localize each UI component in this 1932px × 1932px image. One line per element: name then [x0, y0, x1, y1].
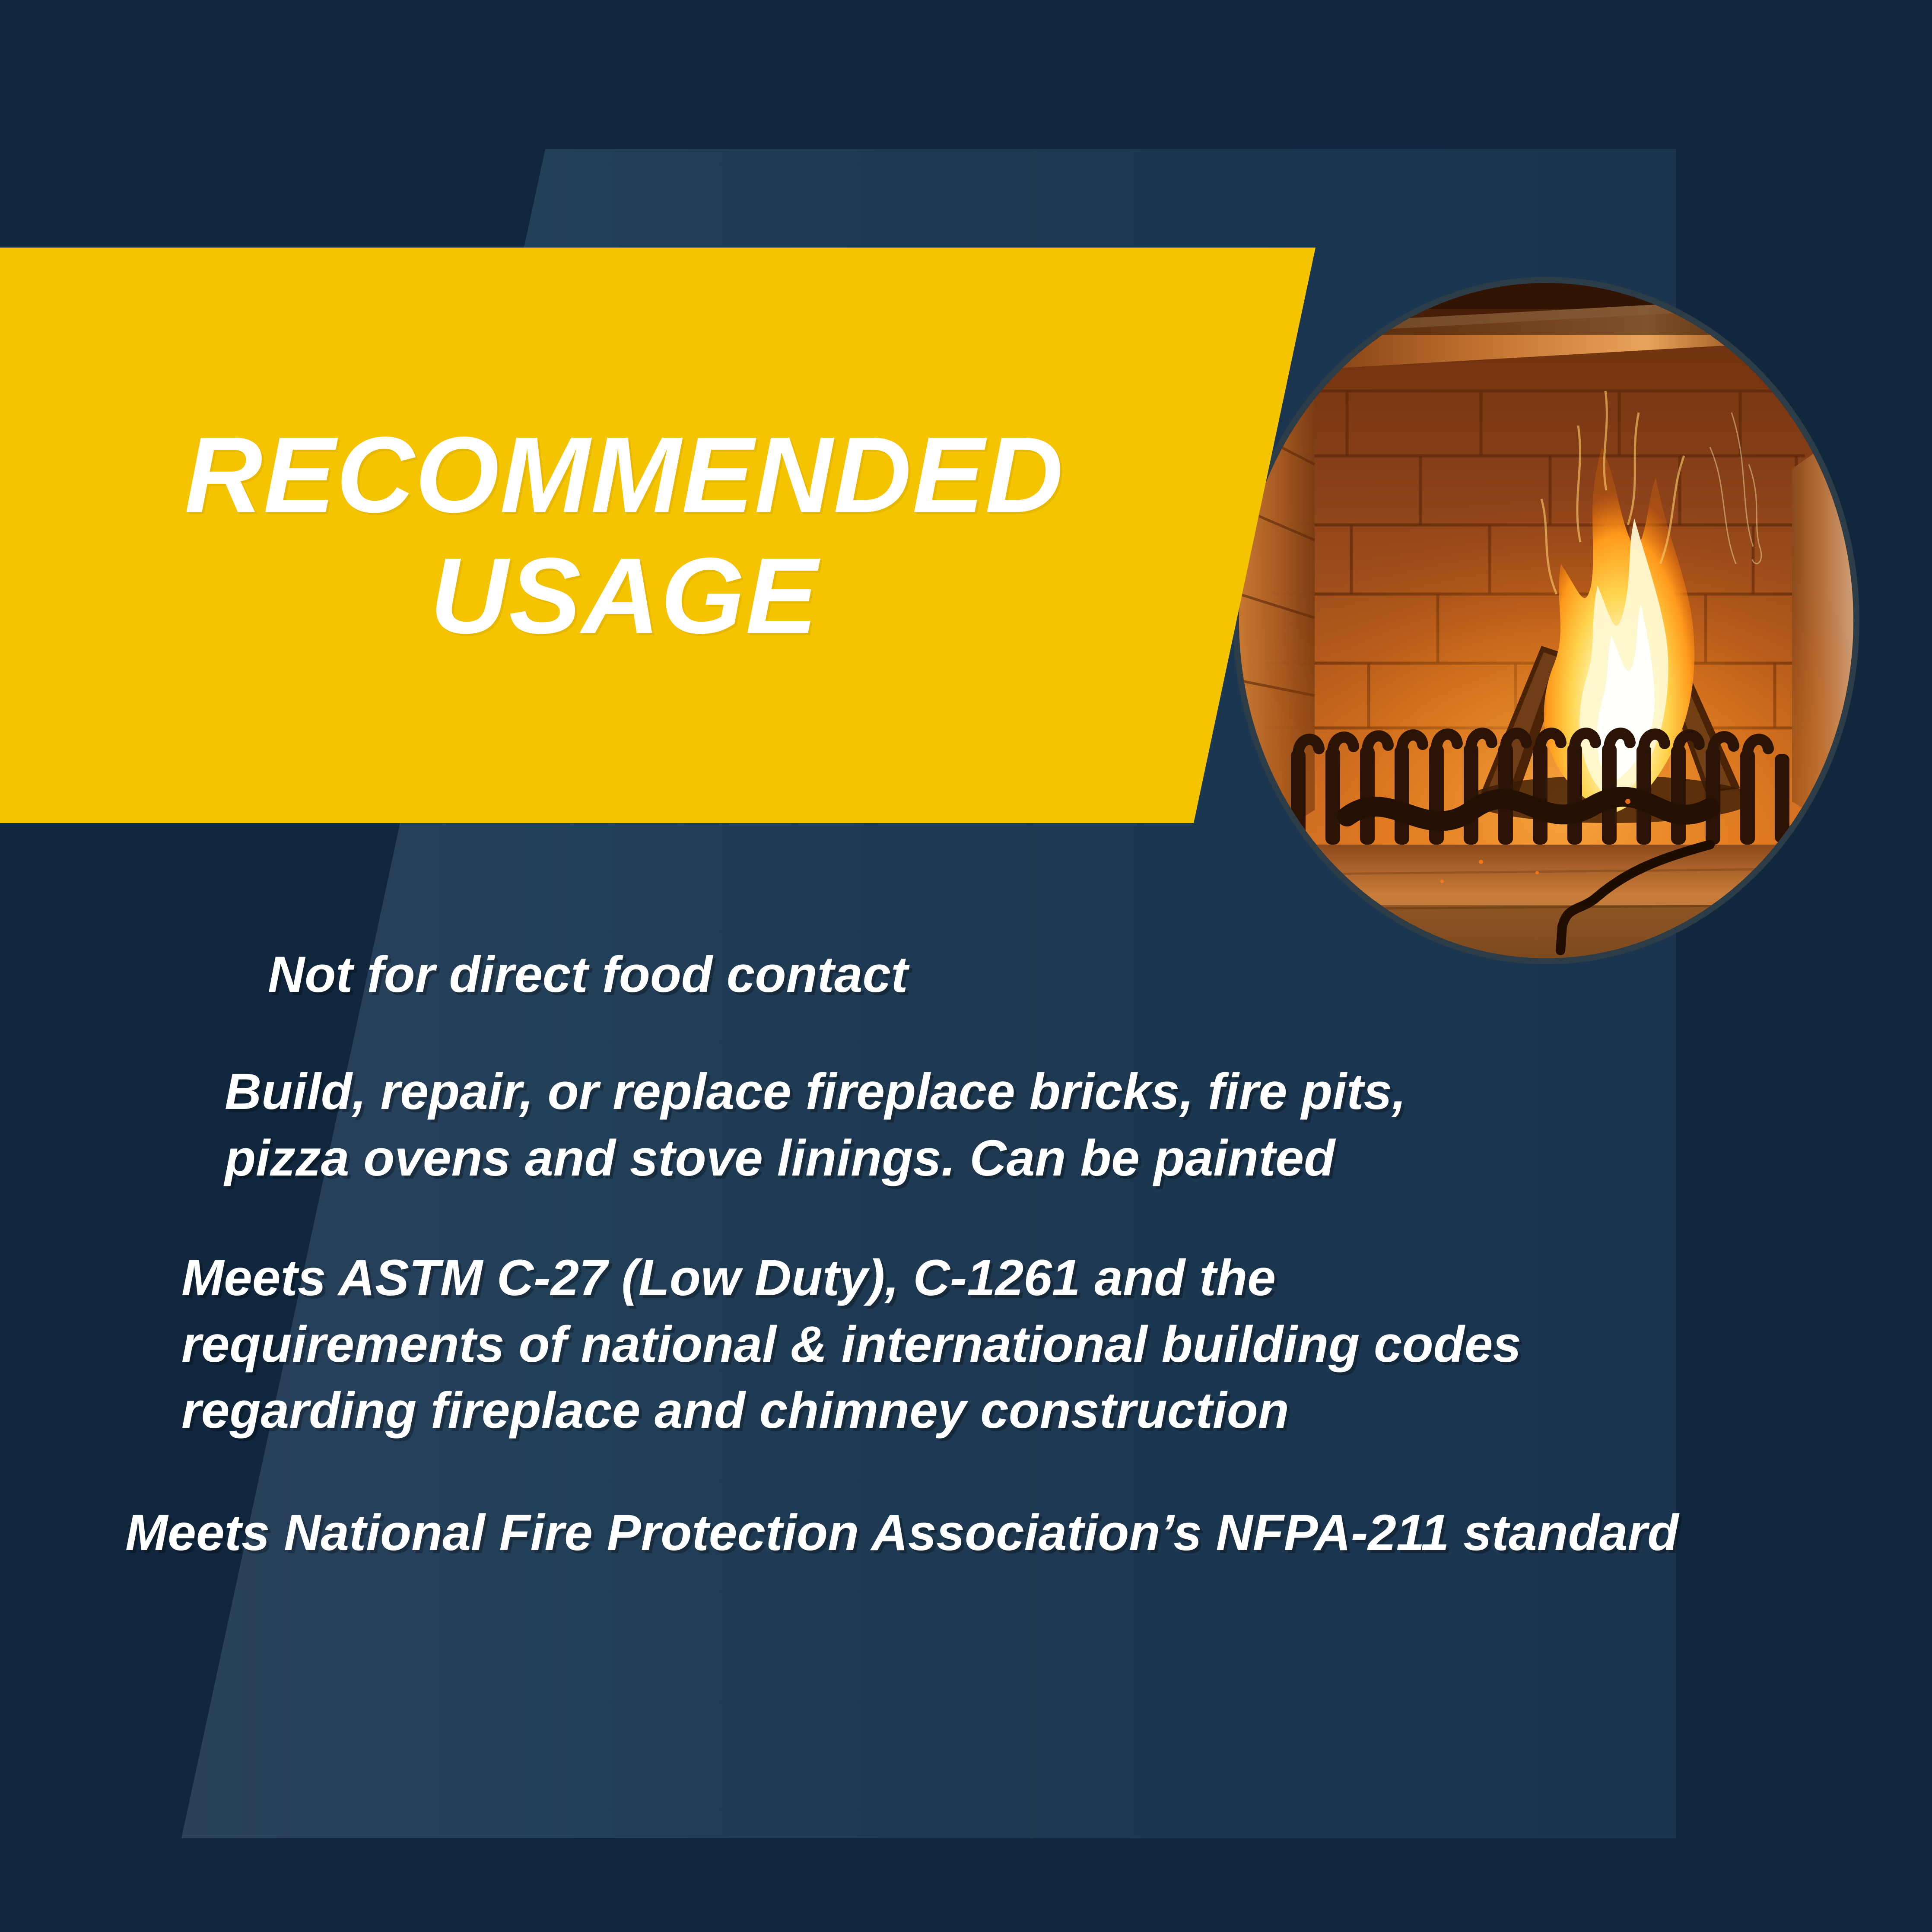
- usage-item-4: Meets National Fire Protection Associati…: [125, 1500, 1932, 1566]
- page-title: RECOMMENDED USAGE: [184, 414, 1064, 656]
- page-title-line-1: RECOMMENDED: [184, 414, 1064, 535]
- page-title-line-2: USAGE: [184, 535, 1064, 656]
- usage-item-1: Not for direct food contact: [268, 942, 1932, 1008]
- usage-item-2: Build, repair, or replace fireplace bric…: [225, 1059, 1932, 1192]
- usage-list: Not for direct food contact Build, repai…: [0, 942, 1932, 1567]
- infographic-root: RECOMMENDED USAGE Not for direct food co…: [0, 0, 1932, 1932]
- usage-item-3: Meets ASTM C-27 (Low Duty), C-1261 and t…: [181, 1245, 1932, 1444]
- fireplace-photo: [1239, 283, 1853, 958]
- fireplace-illustration: [1239, 283, 1853, 958]
- headline-banner: RECOMMENDED USAGE: [0, 248, 1318, 823]
